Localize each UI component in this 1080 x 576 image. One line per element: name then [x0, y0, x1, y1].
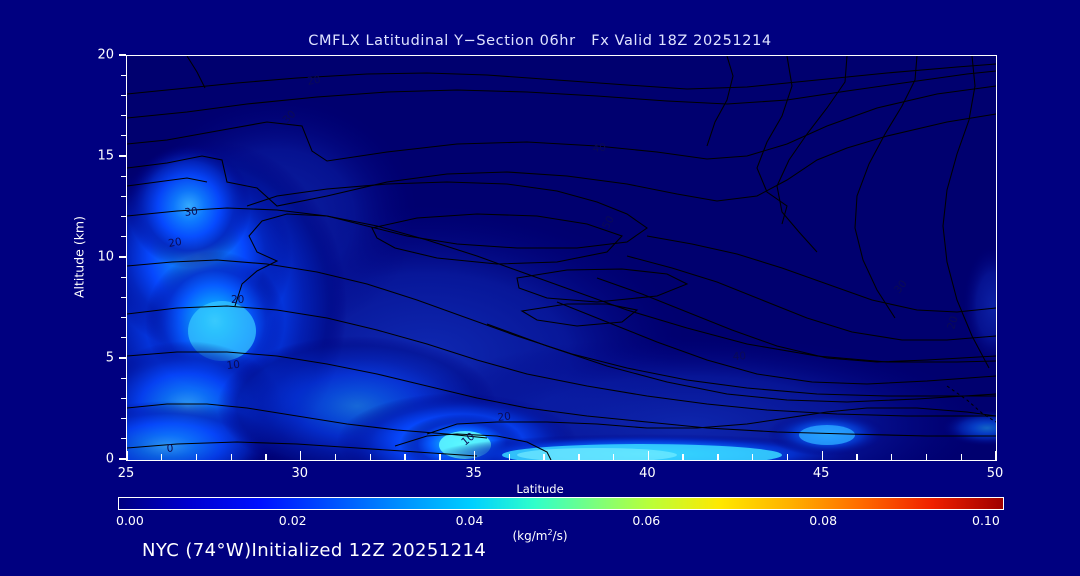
y-tick-minor: [121, 236, 126, 237]
colorbar-tick-label: 0.08: [809, 513, 837, 528]
colorbar-tick-label: 0.04: [456, 513, 484, 528]
colorbar: [118, 497, 1004, 510]
y-tick-minor: [121, 277, 126, 278]
y-tick: [119, 155, 126, 156]
y-tick-minor: [121, 135, 126, 136]
y-tick-minor: [121, 398, 126, 399]
x-tick-label: 40: [639, 466, 656, 481]
y-tick-minor: [121, 337, 126, 338]
y-tick: [119, 54, 126, 55]
y-tick-minor: [121, 418, 126, 419]
y-tick-minor: [121, 378, 126, 379]
y-tick-minor: [121, 297, 126, 298]
y-tick-minor: [121, 176, 126, 177]
y-tick-minor: [121, 216, 126, 217]
y-tick-minor: [121, 438, 126, 439]
y-axis-title: Altitude (km): [72, 216, 87, 298]
y-tick-minor: [121, 75, 126, 76]
colorbar-tick-label: 0.00: [116, 513, 144, 528]
y-tick: [119, 256, 126, 257]
x-tick-label: 25: [118, 466, 135, 481]
x-tick-label: 50: [987, 466, 1004, 481]
colorbar-tick-label: 0.02: [279, 513, 307, 528]
y-tick: [119, 357, 126, 358]
y-tick-minor: [121, 317, 126, 318]
x-tick-label: 45: [813, 466, 830, 481]
y-tick-minor: [121, 115, 126, 116]
colorbar-tick-label: 0.10: [972, 513, 1000, 528]
x-axis-title: Latitude: [0, 482, 1080, 496]
y-tick-minor: [121, 95, 126, 96]
x-tick-label: 30: [292, 466, 309, 481]
x-tick-label: 35: [465, 466, 482, 481]
y-tick: [119, 458, 126, 459]
figure-caption: NYC (74°W)Initialized 12Z 20251214: [142, 540, 486, 561]
colorbar-tick-label: 0.06: [632, 513, 660, 528]
y-tick-minor: [121, 196, 126, 197]
